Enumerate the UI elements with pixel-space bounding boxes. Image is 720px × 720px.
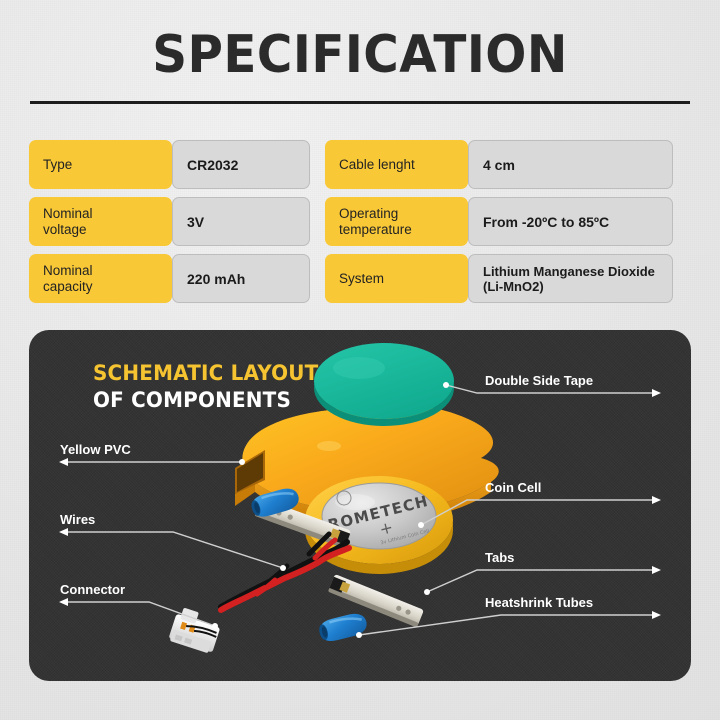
- callout-tabs: Tabs: [485, 550, 514, 565]
- title-divider: [30, 101, 690, 104]
- callout-double-side-tape: Double Side Tape: [485, 373, 593, 388]
- callout-yellow-pvc: Yellow PVC: [60, 442, 131, 457]
- column-gap: [310, 254, 325, 303]
- spec-label-nominal-capacity: Nominal capacity: [29, 254, 172, 303]
- spec-value-cable-length: 4 cm: [468, 140, 673, 189]
- column-gap: [310, 140, 325, 189]
- callout-connector: Connector: [60, 582, 125, 597]
- spec-label-type: Type: [29, 140, 172, 189]
- spec-label-system: System: [325, 254, 468, 303]
- callout-heatshrink-tubes: Heatshrink Tubes: [485, 595, 593, 610]
- schematic-panel: SCHEMATIC LAYOUT OF COMPONENTS: [29, 330, 691, 681]
- spec-value-nominal-capacity: 220 mAh: [172, 254, 310, 303]
- column-gap: [310, 197, 325, 246]
- spec-value-system: Lithium Manganese Dioxide (Li-MnO2): [468, 254, 673, 303]
- callout-coin-cell: Coin Cell: [485, 480, 541, 495]
- spec-value-type: CR2032: [172, 140, 310, 189]
- page-title: SPECIFICATION: [25, 27, 695, 83]
- spec-value-nominal-voltage: 3V: [172, 197, 310, 246]
- specification-table: Type CR2032 Cable lenght 4 cm Nominal vo…: [29, 140, 691, 303]
- spec-label-operating-temperature: Operating temperature: [325, 197, 468, 246]
- spec-value-operating-temperature: From -20ºC to 85ºC: [468, 197, 673, 246]
- spec-label-nominal-voltage: Nominal voltage: [29, 197, 172, 246]
- spec-label-cable-length: Cable lenght: [325, 140, 468, 189]
- callout-wires: Wires: [60, 512, 95, 527]
